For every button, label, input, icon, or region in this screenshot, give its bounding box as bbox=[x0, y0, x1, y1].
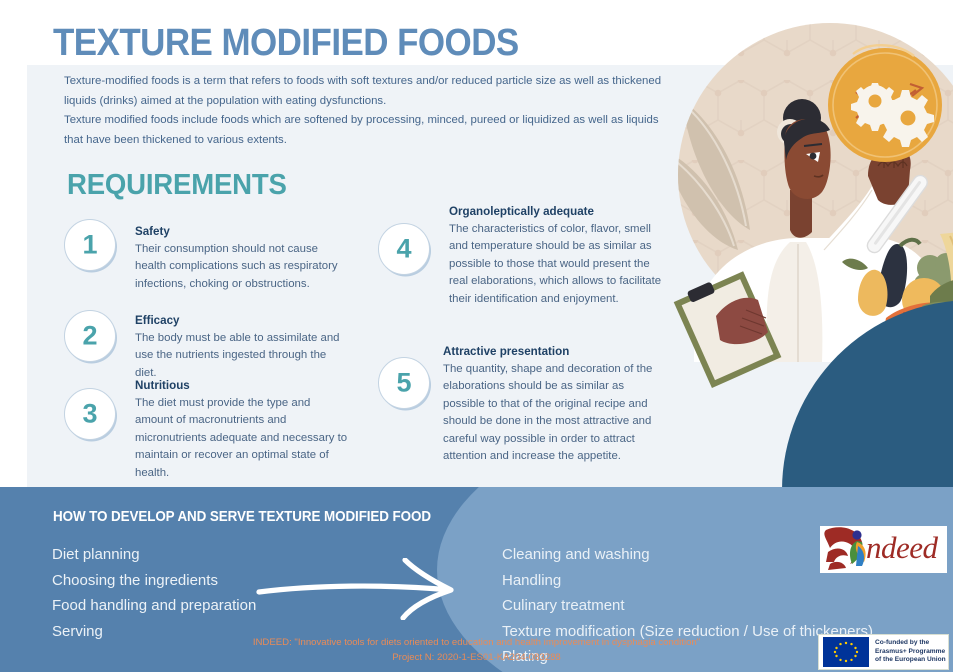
requirement-text-4: The characteristics of color, flavor, sm… bbox=[449, 221, 664, 308]
requirement-number-circle-1: 1 bbox=[64, 219, 116, 271]
indeed-logo-text: ndeed bbox=[866, 530, 938, 566]
footer-line-1: INDEED: "Innovative tools for diets orie… bbox=[0, 635, 953, 650]
requirement-number-2: 2 bbox=[65, 323, 115, 350]
requirement-text-3: The diet must provide the type and amoun… bbox=[135, 395, 350, 482]
requirement-number-circle-2: 2 bbox=[64, 310, 116, 362]
indeed-logo: ndeed bbox=[820, 526, 947, 573]
requirement-number-3: 3 bbox=[65, 401, 115, 428]
howto-heading: HOW TO DEVELOP AND SERVE TEXTURE MODIFIE… bbox=[53, 509, 431, 525]
requirement-title-5: Attractive presentation bbox=[443, 344, 665, 360]
intro-paragraph-2: Texture modified foods include foods whi… bbox=[64, 111, 674, 150]
requirement-text-5: The quantity, shape and decoration of th… bbox=[443, 361, 665, 465]
list-item: Cleaning and washing bbox=[502, 542, 873, 568]
requirement-number-circle-4: 4 bbox=[378, 223, 430, 275]
scientist-illustration bbox=[672, 0, 953, 490]
requirement-title-2: Efficacy bbox=[135, 313, 350, 329]
requirement-number-circle-3: 3 bbox=[64, 388, 116, 440]
list-item: Food handling and preparation bbox=[52, 593, 256, 619]
requirement-text-1: Their consumption should not cause healt… bbox=[135, 241, 350, 293]
howto-steps-left: Diet planning Choosing the ingredients F… bbox=[52, 542, 256, 644]
list-item: Diet planning bbox=[52, 542, 256, 568]
requirement-number-4: 4 bbox=[379, 236, 429, 263]
arrow-icon bbox=[255, 558, 475, 620]
footer-credit: INDEED: "Innovative tools for diets orie… bbox=[0, 635, 953, 665]
requirements-heading: REQUIREMENTS bbox=[67, 168, 287, 202]
requirement-text-2: The body must be able to assimilate and … bbox=[135, 330, 350, 382]
requirement-title-4: Organoleptically adequate bbox=[449, 204, 664, 220]
footer-line-2: Project N: 2020-1-ES01-KA204-083288 bbox=[0, 650, 953, 665]
list-item: Handling bbox=[502, 568, 873, 594]
requirement-title-3: Nutritious bbox=[135, 378, 350, 394]
requirement-number-5: 5 bbox=[379, 370, 429, 397]
requirement-number-1: 1 bbox=[65, 232, 115, 259]
requirement-number-circle-5: 5 bbox=[378, 357, 430, 409]
intro-paragraph-1: Texture-modified foods is a term that re… bbox=[64, 72, 674, 111]
list-item: Choosing the ingredients bbox=[52, 568, 256, 594]
requirement-title-1: Safety bbox=[135, 224, 350, 240]
intro-paragraphs: Texture-modified foods is a term that re… bbox=[64, 72, 674, 150]
list-item: Culinary treatment bbox=[502, 593, 873, 619]
page-title: TEXTURE MODIFIED FOODS bbox=[53, 21, 519, 65]
infographic-poster: TEXTURE MODIFIED FOODS Texture-modified … bbox=[0, 0, 953, 672]
